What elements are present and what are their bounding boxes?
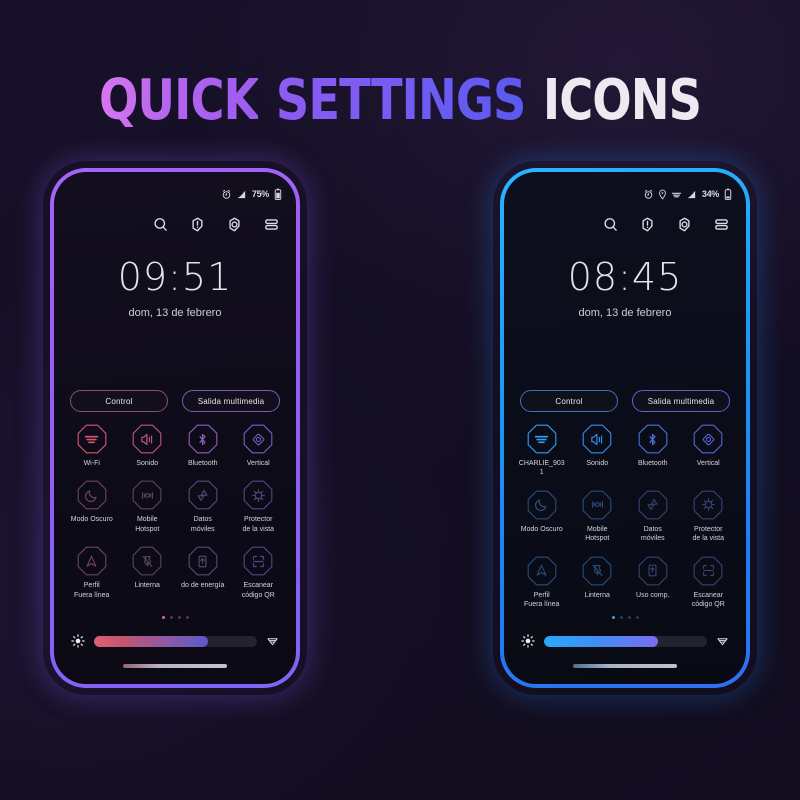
control-pill[interactable]: Control: [70, 390, 168, 412]
phone-screen: 34%: [504, 172, 746, 684]
tile-icon-frame[interactable]: [132, 480, 162, 510]
quick-settings-tile[interactable]: do de energía: [175, 546, 231, 600]
title-part-quick: QUICK: [99, 68, 259, 133]
bluetooth-icon: [645, 432, 660, 447]
wifi-icon: [671, 189, 682, 200]
tile-label: Protector de la vista: [692, 525, 724, 544]
clock-time: 08:45: [504, 258, 746, 296]
brightness-slider[interactable]: [94, 636, 257, 647]
tile-icon-frame[interactable]: [693, 556, 723, 586]
quick-settings-tile[interactable]: Escanear código QR: [681, 556, 737, 610]
page-dot[interactable]: [628, 616, 631, 619]
quick-settings-tile[interactable]: Datos móviles: [175, 480, 231, 534]
tile-icon-frame[interactable]: [77, 546, 107, 576]
chevron-down-icon[interactable]: [716, 635, 729, 648]
tile-icon-frame[interactable]: [188, 424, 218, 454]
qr-scan-icon: [701, 563, 716, 578]
quick-settings-tile[interactable]: CHARLIE_903 1: [514, 424, 570, 478]
battery-percent-label: 34%: [702, 189, 719, 199]
title-part-settings: SETTINGS: [276, 68, 526, 133]
location-icon: [658, 189, 667, 200]
tile-icon-frame[interactable]: [638, 490, 668, 520]
page-indicator[interactable]: [504, 616, 746, 619]
quick-settings-tile[interactable]: Perfil Fuera línea: [514, 556, 570, 610]
settings-icon[interactable]: [676, 216, 693, 233]
brightness-row[interactable]: [54, 634, 296, 648]
page-dot[interactable]: [612, 616, 615, 619]
page-indicator[interactable]: [54, 616, 296, 619]
tile-icon-frame[interactable]: [527, 556, 557, 586]
tile-icon-frame[interactable]: [582, 556, 612, 586]
eye-comfort-icon: [251, 488, 266, 503]
signal-icon: [686, 189, 697, 200]
lockscreen-clock: 09:51 dom, 13 de febrero: [54, 258, 296, 319]
panel-pills: Control Salida multimedia: [54, 390, 296, 412]
page-dot[interactable]: [162, 616, 165, 619]
tile-label: Bluetooth: [638, 459, 668, 468]
page-dot[interactable]: [620, 616, 623, 619]
quick-settings-tile[interactable]: Modo Oscuro: [514, 490, 570, 544]
page-dot[interactable]: [170, 616, 173, 619]
title-part-icons: ICONS: [543, 68, 701, 133]
page-dot[interactable]: [186, 616, 189, 619]
page-dot[interactable]: [636, 616, 639, 619]
airplane-icon: [534, 563, 549, 578]
quick-settings-tile[interactable]: Sonido: [570, 424, 626, 478]
tile-label: Protector de la vista: [242, 515, 274, 534]
tile-label: Linterna: [585, 591, 610, 600]
home-indicator[interactable]: [123, 664, 227, 668]
tile-label: Datos móviles: [641, 525, 665, 544]
brightness-slider-fill: [544, 636, 658, 647]
tile-label: CHARLIE_903 1: [519, 459, 565, 478]
tile-label: do de energía: [181, 581, 224, 590]
tile-label: Escanear código QR: [242, 581, 275, 600]
flashlight-icon: [590, 563, 605, 578]
tile-label: Vertical: [247, 459, 270, 468]
battery-icon: [724, 188, 732, 200]
tile-icon-frame[interactable]: [527, 424, 557, 454]
clock-date: dom, 13 de febrero: [54, 307, 296, 319]
tile-label: Datos móviles: [191, 515, 215, 534]
tile-icon-frame[interactable]: [243, 424, 273, 454]
home-indicator[interactable]: [573, 664, 677, 668]
tile-icon-frame[interactable]: [188, 546, 218, 576]
quick-settings-toolbar[interactable]: [602, 216, 730, 233]
rotation-icon: [251, 432, 266, 447]
media-output-pill[interactable]: Salida multimedia: [182, 390, 280, 412]
sound-icon: [590, 432, 605, 447]
tile-label: Sonido: [586, 459, 608, 468]
quick-settings-tile[interactable]: Mobile Hotspot: [570, 490, 626, 544]
tile-label: Perfil Fuera línea: [74, 581, 109, 600]
alarm-icon: [643, 189, 654, 200]
hotspot-icon: [590, 497, 605, 512]
lockscreen-clock: 08:45 dom, 13 de febrero: [504, 258, 746, 319]
tile-label: Bluetooth: [188, 459, 218, 468]
panel-pills: Control Salida multimedia: [504, 390, 746, 412]
tile-icon-frame[interactable]: [132, 424, 162, 454]
tile-label: Perfil Fuera línea: [524, 591, 559, 610]
tile-label: Vertical: [697, 459, 720, 468]
tile-label: Modo Oscuro: [521, 525, 563, 534]
tile-icon-frame[interactable]: [693, 424, 723, 454]
tile-label: Wi-Fi: [84, 459, 100, 468]
brightness-slider-fill: [94, 636, 208, 647]
tile-label: Sonido: [136, 459, 158, 468]
quick-settings-tile[interactable]: Protector de la vista: [231, 480, 287, 534]
quick-settings-tile[interactable]: Protector de la vista: [681, 490, 737, 544]
chevron-down-icon[interactable]: [266, 635, 279, 648]
tile-label: Mobile Hotspot: [135, 515, 159, 534]
page-dot[interactable]: [178, 616, 181, 619]
quick-settings-tile[interactable]: Sonido: [120, 424, 176, 468]
control-pill[interactable]: Control: [520, 390, 618, 412]
quick-settings-tile[interactable]: Bluetooth: [625, 424, 681, 478]
tile-label: Escanear código QR: [692, 591, 725, 610]
power-saving-icon: [645, 563, 660, 578]
sound-icon: [140, 432, 155, 447]
list-icon[interactable]: [263, 216, 280, 233]
page-title: QUICK SETTINGS ICONS: [0, 68, 800, 133]
alarm-icon: [221, 189, 232, 200]
quick-settings-tile[interactable]: Linterna: [120, 546, 176, 600]
clock-time: 09:51: [54, 258, 296, 296]
tile-icon-frame[interactable]: [243, 480, 273, 510]
search-icon[interactable]: [152, 216, 169, 233]
mobile-data-icon: [645, 497, 660, 512]
tile-icon-frame[interactable]: [582, 490, 612, 520]
tile-icon-frame[interactable]: [77, 480, 107, 510]
quick-settings-grid: CHARLIE_903 1SonidoBluetoothVerticalModo…: [504, 424, 746, 610]
brightness-slider[interactable]: [544, 636, 707, 647]
status-bar: 34%: [643, 188, 732, 200]
tile-icon-frame[interactable]: [188, 480, 218, 510]
tile-label: Uso comp.: [636, 591, 669, 600]
rotation-icon: [701, 432, 716, 447]
wifi-icon: [534, 432, 549, 447]
quick-settings-tile[interactable]: Vertical: [681, 424, 737, 478]
phone-mockup-purple: 75%: [50, 168, 300, 688]
quick-settings-tile[interactable]: Linterna: [570, 556, 626, 610]
quick-settings-tile[interactable]: Modo Oscuro: [64, 480, 120, 534]
tile-icon-frame[interactable]: [638, 556, 668, 586]
qr-scan-icon: [251, 554, 266, 569]
flashlight-icon: [140, 554, 155, 569]
sun-icon: [71, 634, 85, 648]
tile-icon-frame[interactable]: [527, 490, 557, 520]
quick-settings-tile[interactable]: Perfil Fuera línea: [64, 546, 120, 600]
status-bar: 75%: [221, 188, 282, 200]
phone-mockup-blue: 34%: [500, 168, 750, 688]
power-saving-icon: [195, 554, 210, 569]
media-output-pill[interactable]: Salida multimedia: [632, 390, 730, 412]
hotspot-icon: [140, 488, 155, 503]
tile-label: Modo Oscuro: [71, 515, 113, 524]
airplane-icon: [84, 554, 99, 569]
wifi-icon: [84, 432, 99, 447]
phone-screen: 75%: [54, 172, 296, 684]
tile-icon-frame[interactable]: [243, 546, 273, 576]
brightness-row[interactable]: [504, 634, 746, 648]
bluetooth-icon: [195, 432, 210, 447]
quick-settings-tile[interactable]: Vertical: [231, 424, 287, 468]
tile-icon-frame[interactable]: [77, 424, 107, 454]
moon-icon: [84, 488, 99, 503]
power-icon[interactable]: [639, 216, 656, 233]
quick-settings-grid: Wi-FiSonidoBluetoothVerticalModo OscuroM…: [54, 424, 296, 600]
moon-icon: [534, 497, 549, 512]
tile-icon-frame[interactable]: [638, 424, 668, 454]
quick-settings-tile[interactable]: Mobile Hotspot: [120, 480, 176, 534]
power-icon[interactable]: [189, 216, 206, 233]
settings-icon[interactable]: [226, 216, 243, 233]
quick-settings-tile[interactable]: Datos móviles: [625, 490, 681, 544]
clock-date: dom, 13 de febrero: [504, 307, 746, 319]
search-icon[interactable]: [602, 216, 619, 233]
battery-icon: [274, 188, 282, 200]
tile-icon-frame[interactable]: [582, 424, 612, 454]
tile-icon-frame[interactable]: [132, 546, 162, 576]
quick-settings-toolbar[interactable]: [152, 216, 280, 233]
quick-settings-tile[interactable]: Uso comp.: [625, 556, 681, 610]
eye-comfort-icon: [701, 497, 716, 512]
signal-icon: [236, 189, 247, 200]
quick-settings-tile[interactable]: Bluetooth: [175, 424, 231, 468]
quick-settings-tile[interactable]: Wi-Fi: [64, 424, 120, 468]
sun-icon: [521, 634, 535, 648]
list-icon[interactable]: [713, 216, 730, 233]
battery-percent-label: 75%: [252, 189, 269, 199]
tile-label: Linterna: [135, 581, 160, 590]
tile-label: Mobile Hotspot: [585, 525, 609, 544]
quick-settings-tile[interactable]: Escanear código QR: [231, 546, 287, 600]
tile-icon-frame[interactable]: [693, 490, 723, 520]
mobile-data-icon: [195, 488, 210, 503]
